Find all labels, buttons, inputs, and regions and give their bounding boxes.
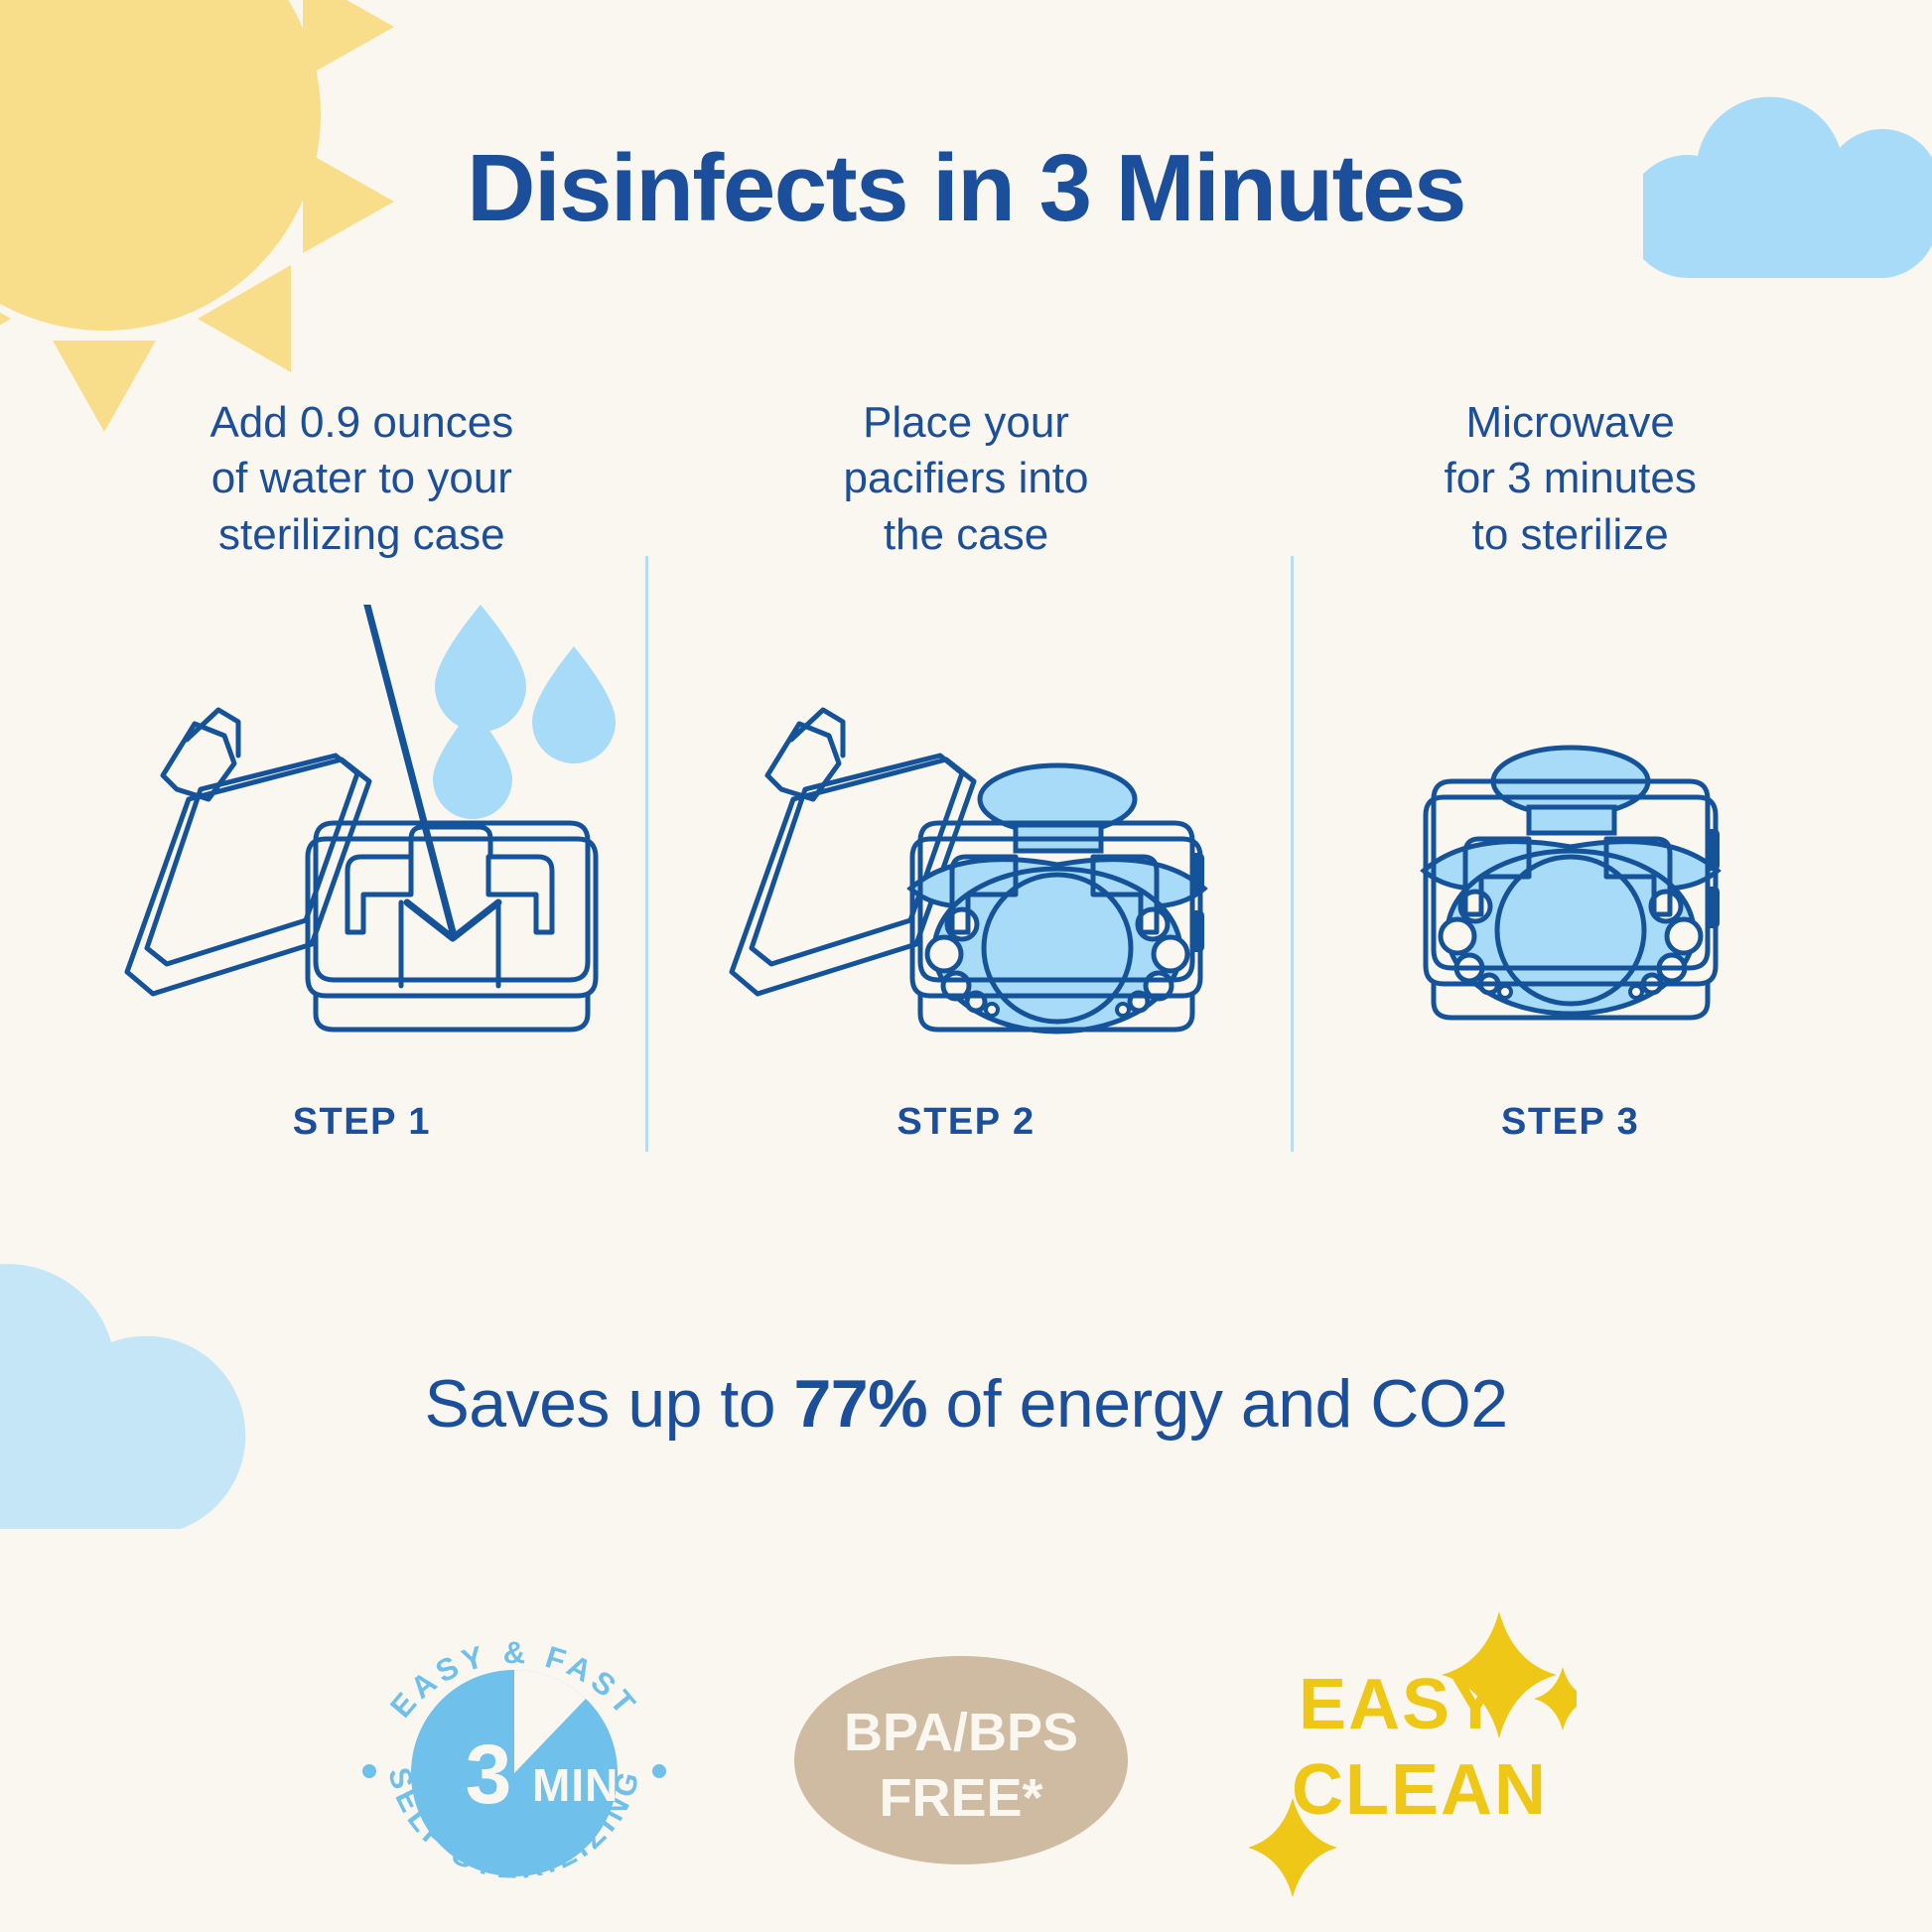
step-2: Place your pacifiers into the case: [664, 395, 1269, 1219]
closed-case-with-pacifier-illustration: [1268, 585, 1872, 1091]
infographic-page: Disinfects in 3 Minutes Add 0.9 ounces o…: [0, 0, 1932, 1932]
open-case-with-water-drops-illustration: [60, 585, 664, 1091]
easy-clean-line-2: CLEAN: [1292, 1750, 1548, 1830]
step-3: Microwave for 3 minutes to sterilize: [1268, 395, 1872, 1219]
step-divider: [645, 556, 648, 1152]
badges-row: EASY & FAST SELF STERILIZING 3 MIN BPA/B…: [0, 1588, 1932, 1932]
bpa-bps-free-badge: BPA/BPS FREE*: [792, 1651, 1130, 1869]
savings-suffix: of energy and CO2: [927, 1366, 1507, 1442]
savings-prefix: Saves up to: [424, 1366, 793, 1442]
step-3-label: STEP 3: [1501, 1101, 1639, 1144]
badge-center-unit: MIN: [532, 1759, 619, 1811]
step-3-caption: Microwave for 3 minutes to sterilize: [1445, 395, 1697, 563]
badge-center-number: 3: [466, 1727, 512, 1821]
page-title: Disinfects in 3 Minutes: [0, 139, 1932, 239]
savings-statement: Saves up to 77% of energy and CO2: [0, 1365, 1932, 1443]
easy-clean-line-1: EASY: [1299, 1665, 1501, 1744]
easy-clean-badge: EASY CLEAN: [1249, 1601, 1577, 1919]
step-2-caption: Place your pacifiers into the case: [844, 395, 1089, 563]
step-1-label: STEP 1: [293, 1101, 431, 1144]
bpa-line-2: FREE*: [879, 1768, 1042, 1828]
step-2-label: STEP 2: [897, 1101, 1035, 1144]
steps-row: Add 0.9 ounces of water to your steriliz…: [60, 395, 1872, 1219]
bpa-line-1: BPA/BPS: [844, 1703, 1078, 1762]
open-case-with-pacifier-illustration: [664, 585, 1269, 1091]
savings-percent: 77%: [793, 1366, 927, 1442]
step-1: Add 0.9 ounces of water to your steriliz…: [60, 395, 664, 1219]
step-divider: [1291, 556, 1294, 1152]
step-1-caption: Add 0.9 ounces of water to your steriliz…: [209, 395, 513, 563]
three-minute-badge: EASY & FAST SELF STERILIZING 3 MIN: [355, 1596, 673, 1924]
